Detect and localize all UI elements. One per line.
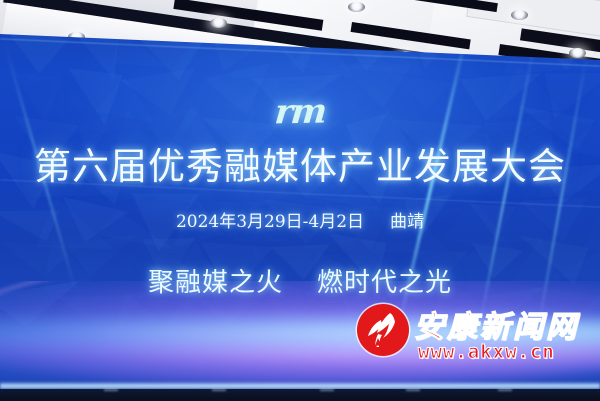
- event-date-row: 2024年3月29日-4月2日曲靖: [0, 207, 600, 232]
- watermark: 安康新闻网 www.akxw.cn: [352, 300, 600, 372]
- frame-glint-1: [104, 389, 118, 391]
- slogan-part-2: 燃时代之光: [317, 262, 452, 299]
- screenshot-root: rm 第六届优秀融媒体产业发展大会 2024年3月29日-4月2日曲靖 聚融媒之…: [0, 0, 600, 401]
- frame-glint-5: [498, 389, 512, 391]
- rm-brand-mark: rm: [0, 87, 600, 137]
- page-title: 第六届优秀融媒体产业发展大会: [0, 136, 600, 190]
- watermark-url: www.akxw.cn: [418, 341, 555, 363]
- screen-bottom-frame: [0, 389, 600, 401]
- event-slogan: 聚融媒之火燃时代之光: [0, 262, 600, 299]
- frame-glint-3: [320, 389, 334, 391]
- watermark-site-name: 安康新闻网: [414, 302, 579, 346]
- frame-glint-4: [406, 389, 420, 391]
- event-date: 2024年3月29日-4月2日: [176, 212, 364, 232]
- slogan-part-1: 聚融媒之火: [148, 268, 283, 298]
- event-place: 曲靖: [390, 207, 424, 232]
- frame-glint-2: [212, 389, 226, 391]
- red-circle-bird-logo-icon: [357, 304, 409, 356]
